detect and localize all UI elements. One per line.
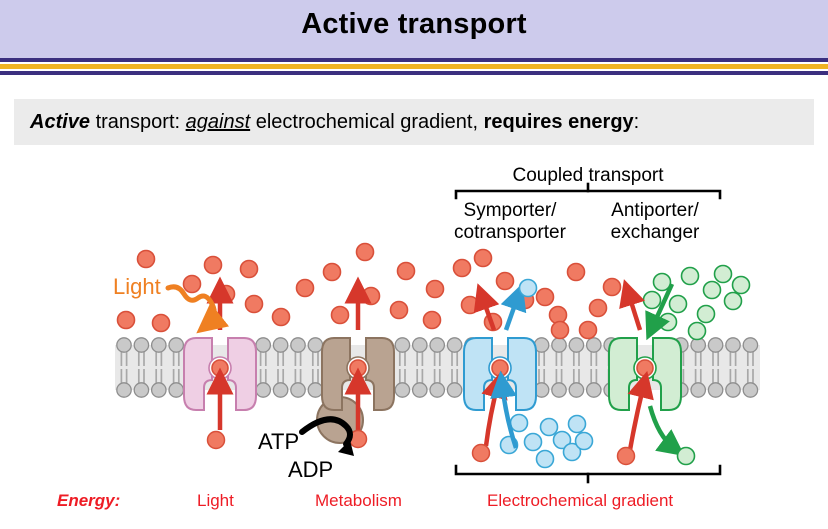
subtitle-word-middle: electrochemical gradient,	[250, 111, 483, 133]
lipid-bilayer	[115, 338, 760, 397]
subtitle-word-transport: transport:	[90, 111, 186, 133]
subtitle-word-requires-energy: requires energy	[484, 111, 634, 133]
electrochemical-gradient-bracket	[456, 466, 720, 482]
red-particles-above	[118, 244, 621, 339]
subtitle-word-colon: :	[634, 111, 640, 133]
coupled-transport-label: Coupled transport	[455, 165, 721, 187]
energy-source-electrochemical-gradient: Electrochemical gradient	[487, 491, 673, 511]
energy-source-metabolism: Metabolism	[315, 491, 402, 511]
energy-row-key: Energy:	[57, 491, 120, 511]
page-title: Active transport	[0, 8, 828, 41]
subtitle-word-against: against	[186, 111, 251, 133]
symporter-transporter	[464, 280, 537, 462]
energy-source-light: Light	[197, 491, 234, 511]
symporter-label: Symporter/ cotransporter	[440, 200, 580, 244]
green-particles-above	[644, 266, 750, 340]
light-driven-pump	[168, 287, 256, 449]
antiporter-label: Antiporter/ exchanger	[585, 200, 725, 244]
antiporter-transporter	[609, 284, 695, 465]
antiporter-label-line2: exchanger	[585, 222, 725, 244]
blue-particles-below	[501, 415, 593, 468]
symporter-label-line2: cotransporter	[440, 222, 580, 244]
subtitle-band: Active transport: against electrochemica…	[14, 99, 814, 145]
diagram-canvas	[0, 0, 828, 529]
antiporter-label-line1: Antiporter/	[585, 200, 725, 222]
atp-driven-pump	[302, 290, 394, 456]
adp-label: ADP	[288, 457, 333, 483]
subtitle-word-active: Active	[30, 111, 90, 133]
slide-root: Active transport Active transport: again…	[0, 0, 828, 529]
symporter-label-line1: Symporter/	[440, 200, 580, 222]
divider-navy-bottom	[0, 71, 828, 75]
light-label: Light	[113, 274, 161, 300]
atp-label: ATP	[258, 429, 299, 455]
subtitle-text: Active transport: against electrochemica…	[14, 111, 639, 134]
